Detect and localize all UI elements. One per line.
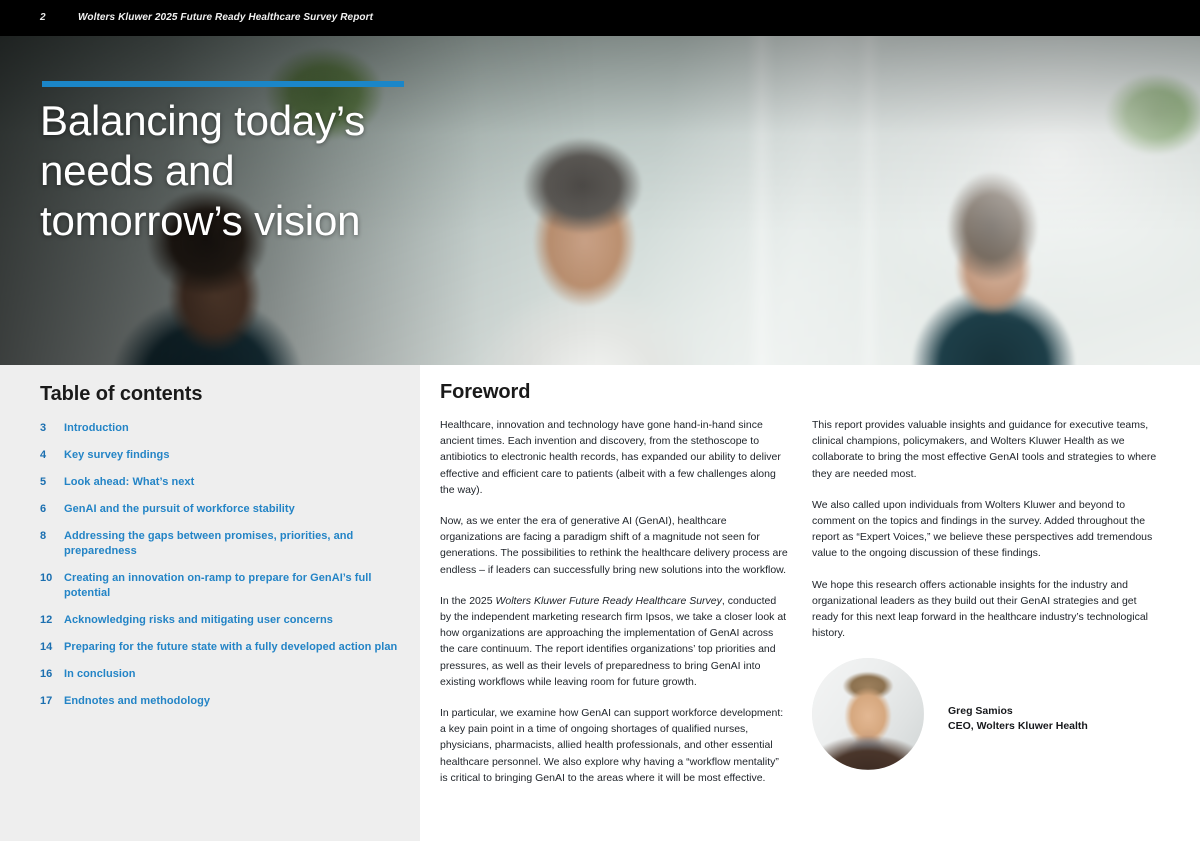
- toc-item-label: Preparing for the future state with a fu…: [64, 640, 397, 655]
- toc-page-number: 12: [40, 613, 64, 628]
- toc-item-key-survey-findings[interactable]: 4 Key survey findings: [40, 448, 400, 463]
- hero-accent-rule: [42, 81, 404, 87]
- toc-page-number: 4: [40, 448, 64, 463]
- toc-item-look-ahead[interactable]: 5 Look ahead: What’s next: [40, 475, 400, 490]
- survey-text-after: , conducted by the independent marketing…: [440, 595, 786, 688]
- foreword-paragraph: We hope this research offers actionable …: [812, 577, 1164, 642]
- toc-page-number: 16: [40, 667, 64, 682]
- survey-text-before: In the 2025: [440, 595, 495, 607]
- avatar: [812, 658, 924, 770]
- toc-item-genai-workforce-stability[interactable]: 6 GenAI and the pursuit of workforce sta…: [40, 502, 400, 517]
- foreword-paragraph-survey: In the 2025 Wolters Kluwer Future Ready …: [440, 593, 788, 690]
- signature-name: Greg Samios: [948, 704, 1088, 719]
- signature-text: Greg Samios CEO, Wolters Kluwer Health: [948, 704, 1088, 734]
- toc-list: 3 Introduction 4 Key survey findings 5 L…: [40, 421, 400, 721]
- signature-role: CEO, Wolters Kluwer Health: [948, 719, 1088, 734]
- toc-page-number: 5: [40, 475, 64, 490]
- foreword-heading: Foreword: [440, 381, 530, 404]
- toc-page-number: 17: [40, 694, 64, 709]
- toc-item-label: Addressing the gaps between promises, pr…: [64, 529, 400, 559]
- page-number: 2: [40, 12, 46, 23]
- signature-block: Greg Samios CEO, Wolters Kluwer Health: [812, 658, 1164, 778]
- document-title: Wolters Kluwer 2025 Future Ready Healthc…: [78, 12, 373, 23]
- toc-item-introduction[interactable]: 3 Introduction: [40, 421, 400, 436]
- foreword-paragraph: This report provides valuable insights a…: [812, 417, 1164, 482]
- hero-title-line-2: needs and: [40, 146, 560, 196]
- hero-title-line-3: tomorrow’s vision: [40, 196, 560, 246]
- foreword-column-right: This report provides valuable insights a…: [812, 417, 1164, 656]
- foreword-paragraph: We also called upon individuals from Wol…: [812, 497, 1164, 562]
- toc-heading: Table of contents: [40, 383, 202, 406]
- toc-page-number: 10: [40, 571, 64, 586]
- toc-item-acknowledging-risks[interactable]: 12 Acknowledging risks and mitigating us…: [40, 613, 400, 628]
- toc-item-innovation-on-ramp[interactable]: 10 Creating an innovation on-ramp to pre…: [40, 571, 400, 601]
- survey-title-italic: Wolters Kluwer Future Ready Healthcare S…: [495, 595, 721, 607]
- toc-item-label: Creating an innovation on-ramp to prepar…: [64, 571, 400, 601]
- hero-title-line-1: Balancing today’s: [40, 96, 560, 146]
- foreword-paragraph: Now, as we enter the era of generative A…: [440, 513, 788, 578]
- toc-item-label: Endnotes and methodology: [64, 694, 210, 709]
- toc-item-in-conclusion[interactable]: 16 In conclusion: [40, 667, 400, 682]
- toc-page-number: 3: [40, 421, 64, 436]
- toc-page-number: 6: [40, 502, 64, 517]
- foreword-column-left: Healthcare, innovation and technology ha…: [440, 417, 788, 801]
- foreword-paragraph: Healthcare, innovation and technology ha…: [440, 417, 788, 498]
- toc-item-label: Introduction: [64, 421, 129, 436]
- hero-banner: Balancing today’s needs and tomorrow’s v…: [0, 36, 1200, 365]
- toc-item-label: In conclusion: [64, 667, 136, 682]
- page-body: Table of contents 3 Introduction 4 Key s…: [0, 365, 1200, 849]
- hero-title: Balancing today’s needs and tomorrow’s v…: [40, 96, 560, 246]
- toc-item-label: GenAI and the pursuit of workforce stabi…: [64, 502, 295, 517]
- table-of-contents-panel: Table of contents 3 Introduction 4 Key s…: [0, 365, 420, 841]
- avatar-photo: [812, 658, 924, 770]
- toc-item-label: Look ahead: What’s next: [64, 475, 194, 490]
- toc-item-label: Acknowledging risks and mitigating user …: [64, 613, 333, 628]
- toc-item-label: Key survey findings: [64, 448, 169, 463]
- toc-item-preparing-future-state[interactable]: 14 Preparing for the future state with a…: [40, 640, 400, 655]
- toc-item-endnotes-methodology[interactable]: 17 Endnotes and methodology: [40, 694, 400, 709]
- toc-page-number: 14: [40, 640, 64, 655]
- foreword-paragraph: In particular, we examine how GenAI can …: [440, 705, 788, 786]
- toc-item-addressing-gaps[interactable]: 8 Addressing the gaps between promises, …: [40, 529, 400, 559]
- toc-page-number: 8: [40, 529, 64, 544]
- document-header-bar: 2 Wolters Kluwer 2025 Future Ready Healt…: [0, 0, 1200, 36]
